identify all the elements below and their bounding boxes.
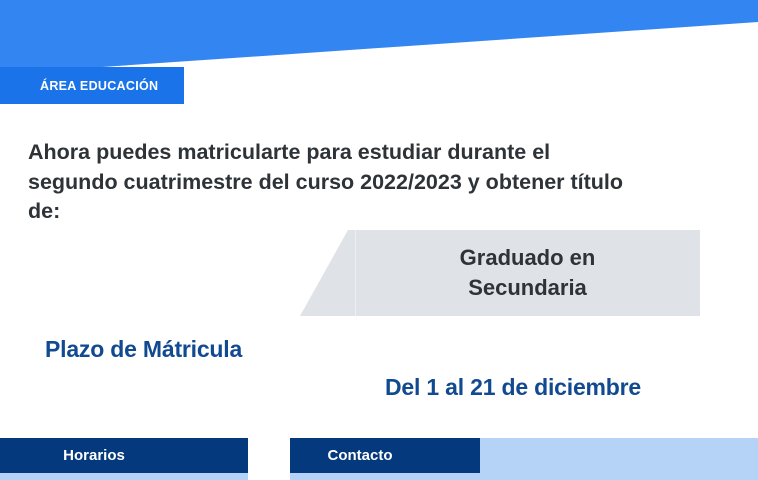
intro-line-1: Ahora puedes matricularte para estudiar …: [28, 138, 742, 168]
degree-title-line-1: Graduado en: [355, 243, 700, 273]
tab-horarios-label: Horarios: [63, 447, 125, 464]
enrollment-dates: Del 1 al 21 de diciembre: [385, 374, 641, 401]
contacto-panel-body: [290, 473, 480, 480]
tab-contacto[interactable]: Contacto: [290, 438, 480, 473]
intro-line-2: segundo cuatrimestre del curso 2022/2023…: [28, 168, 742, 198]
page-title: Educación de adultos: [0, 0, 758, 9]
intro-line-3: de:: [28, 197, 742, 227]
degree-title-line-2: Secundaria: [355, 273, 700, 303]
tab-horarios[interactable]: Horarios: [0, 438, 248, 473]
area-badge: ÁREA EDUCACIÓN: [0, 67, 184, 104]
tab-contacto-label: Contacto: [328, 447, 393, 464]
enrollment-label: Plazo de Mátricula: [45, 336, 242, 363]
intro-paragraph: Ahora puedes matricularte para estudiar …: [28, 138, 742, 227]
contacto-panel-fill: [480, 438, 758, 480]
horarios-panel-body: [0, 473, 248, 480]
degree-title: Graduado en Secundaria: [355, 243, 700, 302]
header-banner: [0, 0, 758, 76]
poster-canvas: Educación de adultos ÁREA EDUCACIÓN Ahor…: [0, 0, 758, 480]
area-badge-label: ÁREA EDUCACIÓN: [40, 79, 158, 93]
